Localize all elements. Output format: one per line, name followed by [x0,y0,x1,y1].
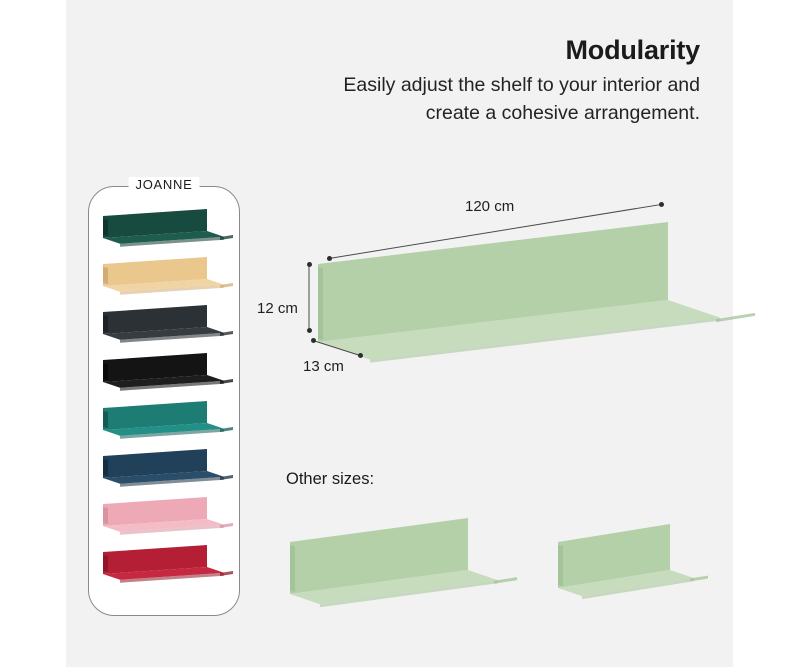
length-dimension-label: 120 cm [465,198,514,215]
shelf-mount-tab [220,379,233,384]
hero-shelf [318,222,668,394]
color-swatch-list [89,209,239,609]
color-swatch-pink[interactable] [103,497,227,541]
shelf-thumbnail-black [103,353,207,399]
small-shelf [558,524,670,612]
shelf-thumbnail-red [103,545,207,591]
shelf-mount-tab [220,235,233,240]
color-variant-panel: JOANNE [88,186,240,616]
depth-dimension-start-dot [311,338,316,343]
depth-dimension-end-dot [358,353,363,358]
headline-subtitle-line-2: create a cohesive arrangement. [240,100,700,128]
headline-block: Modularity Easily adjust the shelf to yo… [240,34,700,128]
depth-dimension-label: 13 cm [303,358,344,375]
page-title: Modularity [240,34,700,66]
height-dimension-label: 12 cm [257,300,298,317]
color-swatch-dark-green[interactable] [103,209,227,253]
color-swatch-navy-blue[interactable] [103,449,227,493]
shelf-mount-tab [220,331,233,336]
length-dimension-start-dot [327,256,332,261]
collection-name-label: JOANNE [129,177,200,192]
shelf-thumbnail-dark-green [103,209,207,255]
headline-subtitle-line-1: Easily adjust the shelf to your interior… [240,72,700,100]
shelf-mount-tab [220,283,233,288]
shelf-mount-tab [220,523,233,528]
shelf-thumbnail-pink [103,497,207,543]
color-swatch-sand-beige[interactable] [103,257,227,301]
color-swatch-teal[interactable] [103,401,227,445]
infographic-canvas: Modularity Easily adjust the shelf to yo… [0,0,800,667]
height-dimension-bottom-dot [307,328,312,333]
color-swatch-black[interactable] [103,353,227,397]
color-swatch-red[interactable] [103,545,227,589]
medium-shelf [290,518,468,624]
other-sizes-label: Other sizes: [286,470,374,489]
length-dimension-end-dot [659,202,664,207]
shelf-thumbnail-teal [103,401,207,447]
color-swatch-anthracite[interactable] [103,305,227,349]
height-dimension-line [309,265,310,331]
shelf-mount-tab [220,475,233,480]
shelf-thumbnail-anthracite [103,305,207,351]
shelf-thumbnail-navy-blue [103,449,207,495]
shelf-thumbnail-sand-beige [103,257,207,303]
shelf-mount-tab [220,427,233,432]
height-dimension-top-dot [307,262,312,267]
shelf-mount-tab [220,571,233,576]
